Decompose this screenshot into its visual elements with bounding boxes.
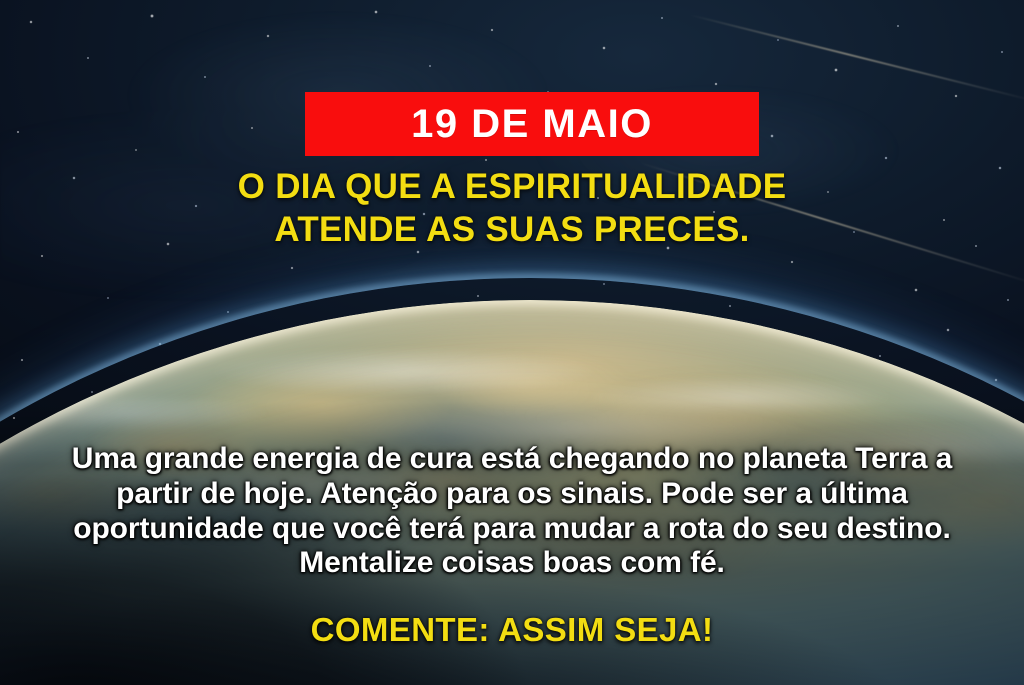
call-to-action-label: COMENTE: ASSIM SEJA! xyxy=(0,612,1024,648)
page-title: O DIA QUE A ESPIRITUALIDADE ATENDE AS SU… xyxy=(0,166,1024,251)
poster-content: 19 DE MAIO O DIA QUE A ESPIRITUALIDADE A… xyxy=(0,0,1024,685)
body-paragraph: Uma grande energia de cura está chegando… xyxy=(0,442,1024,581)
date-banner-label: 19 DE MAIO xyxy=(411,104,653,144)
poster-canvas: 19 DE MAIO O DIA QUE A ESPIRITUALIDADE A… xyxy=(0,0,1024,685)
date-banner: 19 DE MAIO xyxy=(305,92,759,156)
